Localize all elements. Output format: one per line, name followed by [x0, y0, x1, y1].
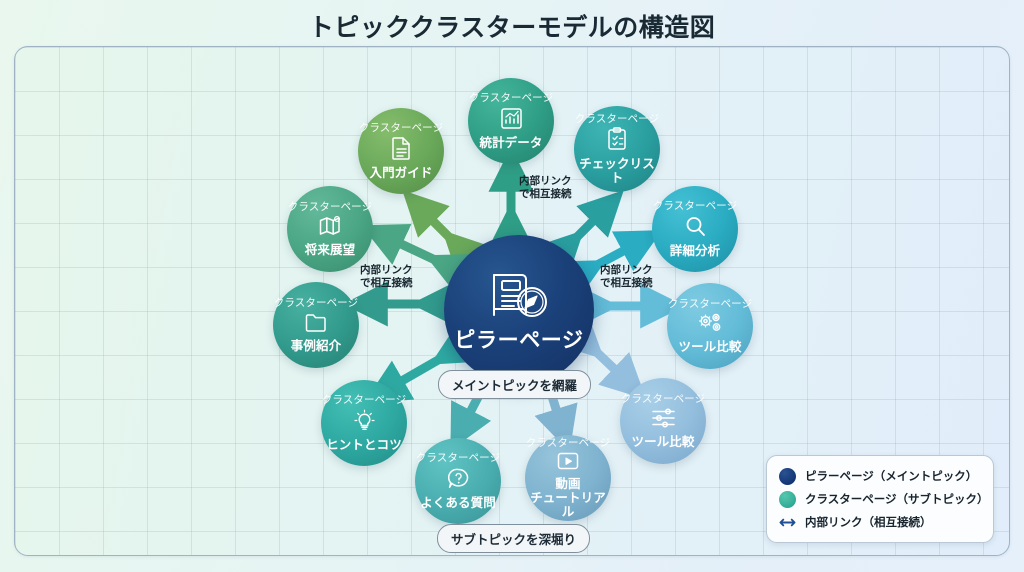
edge-pillar-intro — [420, 208, 460, 248]
badge-sub-topic: サブトピックを深堀り — [437, 524, 590, 553]
cluster-node-label: ツール比較 — [678, 340, 741, 354]
edge-label-line1: 内部リンク — [360, 264, 413, 277]
edge-pillar-tool2 — [586, 342, 628, 382]
badge-main-topic: メイントピックを網羅 — [438, 370, 591, 399]
cluster-node-label: 入門ガイド — [369, 166, 432, 180]
cluster-node-checklist[interactable]: クラスターページ チェックリスト — [574, 106, 660, 192]
legend-item-link: 内部リンク（相互接続） — [779, 511, 981, 533]
edge-label-line2: で相互接続 — [600, 277, 653, 290]
legend-swatch-pillar-circle — [779, 468, 796, 485]
page-title: トピッククラスターモデルの構造図 — [0, 8, 1024, 44]
legend: ピラーページ（メイントピック） クラスターページ（サブトピック） 内部リンク（相… — [766, 455, 994, 543]
clipboard-check-icon — [607, 127, 627, 156]
cluster-node-tool-compare-2[interactable]: クラスターページ ツール比較 — [620, 378, 706, 464]
cluster-node-label: 事例紹介 — [291, 339, 341, 353]
cluster-node-prefix: クラスターページ — [359, 122, 443, 134]
edge-label-line1: 内部リンク — [600, 264, 653, 277]
cluster-node-intro-guide[interactable]: クラスターページ 入門ガイド — [358, 108, 444, 194]
cluster-node-video-tutorial[interactable]: クラスターページ 動画 チュートリアル — [525, 435, 611, 521]
legend-item-cluster: クラスターページ（サブトピック） — [779, 488, 981, 510]
edge-label-line1: 内部リンク — [519, 175, 572, 188]
cluster-node-label: よくある質問 — [420, 496, 496, 510]
edge-label-right: 内部リンク で相互接続 — [600, 264, 653, 290]
book-compass-icon — [488, 269, 550, 326]
cluster-node-label: 詳細分析 — [670, 244, 720, 258]
cluster-node-label: 将来展望 — [305, 243, 355, 257]
gears-icon — [697, 312, 723, 339]
bar-chart-icon — [500, 107, 523, 135]
cluster-node-faq[interactable]: クラスターページ よくある質問 — [415, 438, 501, 524]
magnifier-icon — [684, 215, 707, 243]
edge-label-line2: で相互接続 — [519, 188, 572, 201]
play-icon — [556, 451, 580, 476]
edge-label-left: 内部リンク で相互接続 — [360, 264, 413, 290]
cluster-node-prefix: クラスターページ — [653, 200, 737, 212]
cluster-node-label: チェックリスト — [574, 157, 660, 185]
cluster-node-prefix: クラスターページ — [575, 113, 659, 125]
cluster-node-stats-data[interactable]: クラスターページ 統計データ — [468, 78, 554, 164]
map-icon — [318, 215, 343, 242]
document-icon — [391, 136, 412, 165]
cluster-node-case-study[interactable]: クラスターページ 事例紹介 — [273, 282, 359, 368]
cluster-node-prefix: クラスターページ — [416, 452, 500, 464]
double-arrow-icon — [779, 514, 796, 531]
cluster-node-prefix: クラスターページ — [526, 437, 610, 449]
legend-swatch-cluster-circle — [779, 491, 796, 508]
edge-label-top: 内部リンク で相互接続 — [519, 175, 572, 201]
cluster-node-detail-analysis[interactable]: クラスターページ 詳細分析 — [652, 186, 738, 272]
edge-label-line2: で相互接続 — [360, 277, 413, 290]
cluster-node-prefix: クラスターページ — [274, 297, 358, 309]
cluster-node-prefix: クラスターページ — [621, 393, 705, 405]
pillar-page-label: ピラーページ — [454, 329, 583, 353]
cluster-node-label: 統計データ — [479, 136, 542, 150]
diagram-canvas: トピッククラスターモデルの構造図 — [0, 0, 1024, 572]
legend-label-cluster: クラスターページ（サブトピック） — [805, 491, 989, 507]
cluster-node-prefix: クラスターページ — [668, 298, 752, 310]
cluster-node-future-outlook[interactable]: クラスターページ 将来展望 — [287, 186, 373, 272]
cluster-node-label: ツール比較 — [631, 435, 694, 449]
cluster-node-prefix: クラスターページ — [322, 394, 406, 406]
folder-icon — [304, 312, 329, 338]
cluster-node-tool-compare-1[interactable]: クラスターページ ツール比較 — [667, 283, 753, 369]
sliders-icon — [651, 407, 676, 434]
legend-label-pillar: ピラーページ（メイントピック） — [805, 468, 977, 484]
cluster-node-prefix: クラスターページ — [469, 92, 553, 104]
cluster-node-prefix: クラスターページ — [288, 201, 372, 213]
cluster-node-hints-tips[interactable]: クラスターページ ヒントとコツ — [321, 380, 407, 466]
cluster-node-label: ヒントとコツ — [326, 438, 402, 452]
question-bubble-icon — [447, 467, 470, 495]
lightbulb-icon — [353, 409, 376, 437]
pillar-page-node[interactable]: ピラーページ — [444, 235, 594, 385]
edge-pillar-future — [384, 236, 448, 266]
edge-pillar-checklist — [566, 208, 606, 248]
cluster-node-label: 動画 チュートリアル — [525, 477, 611, 519]
legend-item-pillar: ピラーページ（メイントピック） — [779, 465, 981, 487]
legend-label-link: 内部リンク（相互接続） — [805, 514, 932, 530]
